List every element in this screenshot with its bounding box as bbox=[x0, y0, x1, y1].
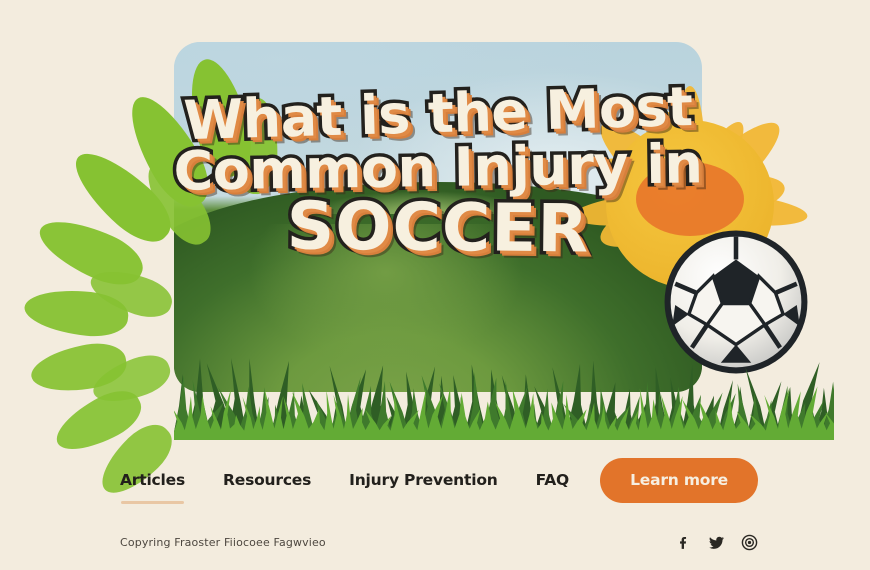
hero-banner: What is the Most Common Injury in SOCCER bbox=[88, 20, 788, 430]
leaf-shape bbox=[28, 338, 130, 398]
learn-more-button[interactable]: Learn more bbox=[600, 458, 758, 503]
leaf-shape bbox=[87, 348, 175, 411]
leaf-shape bbox=[62, 139, 182, 254]
nav-item-resources[interactable]: Resources bbox=[223, 471, 311, 489]
copyright-text: Copyring Fraoster Fiiocoee Fagwvieo bbox=[120, 536, 675, 549]
nav-links: Articles Resources Injury Prevention FAQ bbox=[120, 471, 600, 489]
grass-blades bbox=[174, 330, 834, 440]
nav-item-articles[interactable]: Articles bbox=[120, 471, 185, 489]
leaf-shape bbox=[48, 381, 149, 461]
field-crest bbox=[269, 182, 575, 214]
nav-item-injury-prevention[interactable]: Injury Prevention bbox=[349, 471, 497, 489]
main-navigation: Articles Resources Injury Prevention FAQ… bbox=[0, 452, 870, 508]
instagram-icon[interactable] bbox=[741, 534, 758, 551]
leaf-shape bbox=[22, 285, 130, 340]
facebook-icon[interactable] bbox=[675, 534, 692, 551]
social-links bbox=[675, 534, 758, 551]
leaf-shape bbox=[31, 208, 150, 295]
sun-ray bbox=[688, 189, 808, 231]
nav-item-faq[interactable]: FAQ bbox=[536, 471, 569, 489]
leaf-shape bbox=[85, 262, 177, 324]
twitter-icon[interactable] bbox=[708, 534, 725, 551]
page-footer: Copyring Fraoster Fiiocoee Fagwvieo bbox=[0, 520, 870, 564]
